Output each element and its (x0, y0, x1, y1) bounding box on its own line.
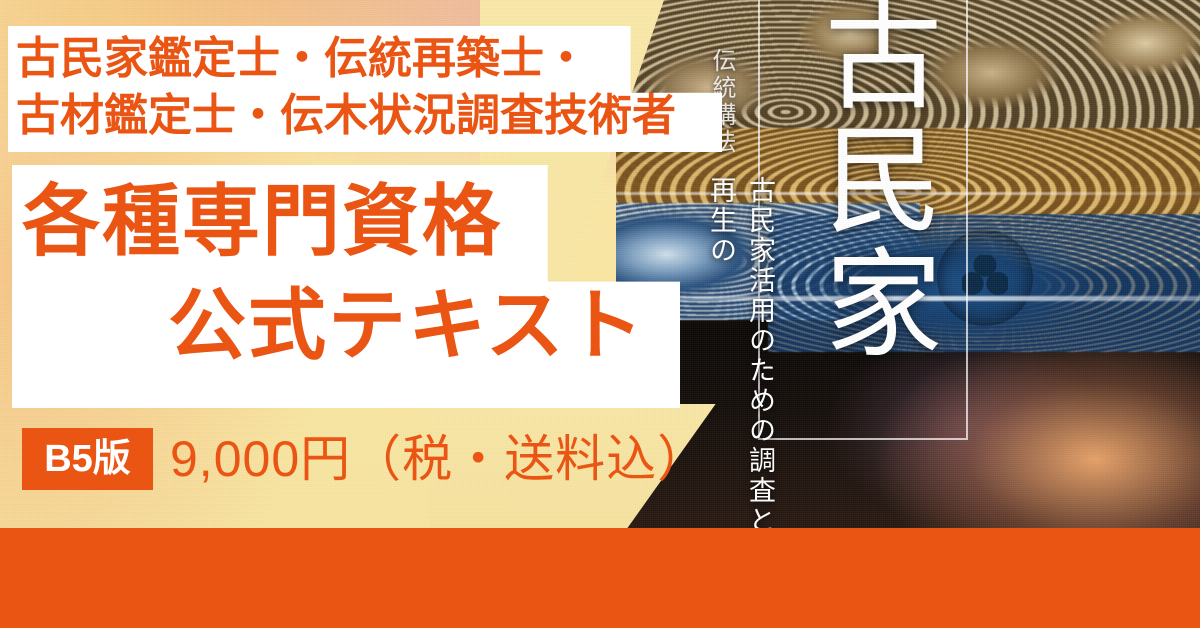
page-title-line-1: 各種専門資格 (22, 182, 502, 260)
cover-title: 古民家 (786, 0, 936, 366)
promo-banner: 古民家 伝統構法 古民家活用のための調査と再生の 古民家鑑定士・伝統再築士・ 古… (0, 0, 1200, 628)
headline-line-1: 古民家鑑定士・伝統再築士・ (16, 30, 722, 87)
cover-subtitle-main: 古民家活用のための調査と再生の (702, 176, 780, 534)
headline-text: 古民家鑑定士・伝統再築士・ 古材鑑定士・伝木状況調査技術者 (16, 30, 722, 144)
price-text: 9,000円（税・送料込） (170, 430, 708, 488)
headline-line-2: 古材鑑定士・伝木状況調査技術者 (16, 87, 722, 144)
format-badge: B5版 (22, 428, 153, 490)
cta-bar[interactable]: 詳細・ご購入はこちら (0, 528, 1200, 628)
page-title-line-2: 公式テキスト (168, 286, 646, 364)
